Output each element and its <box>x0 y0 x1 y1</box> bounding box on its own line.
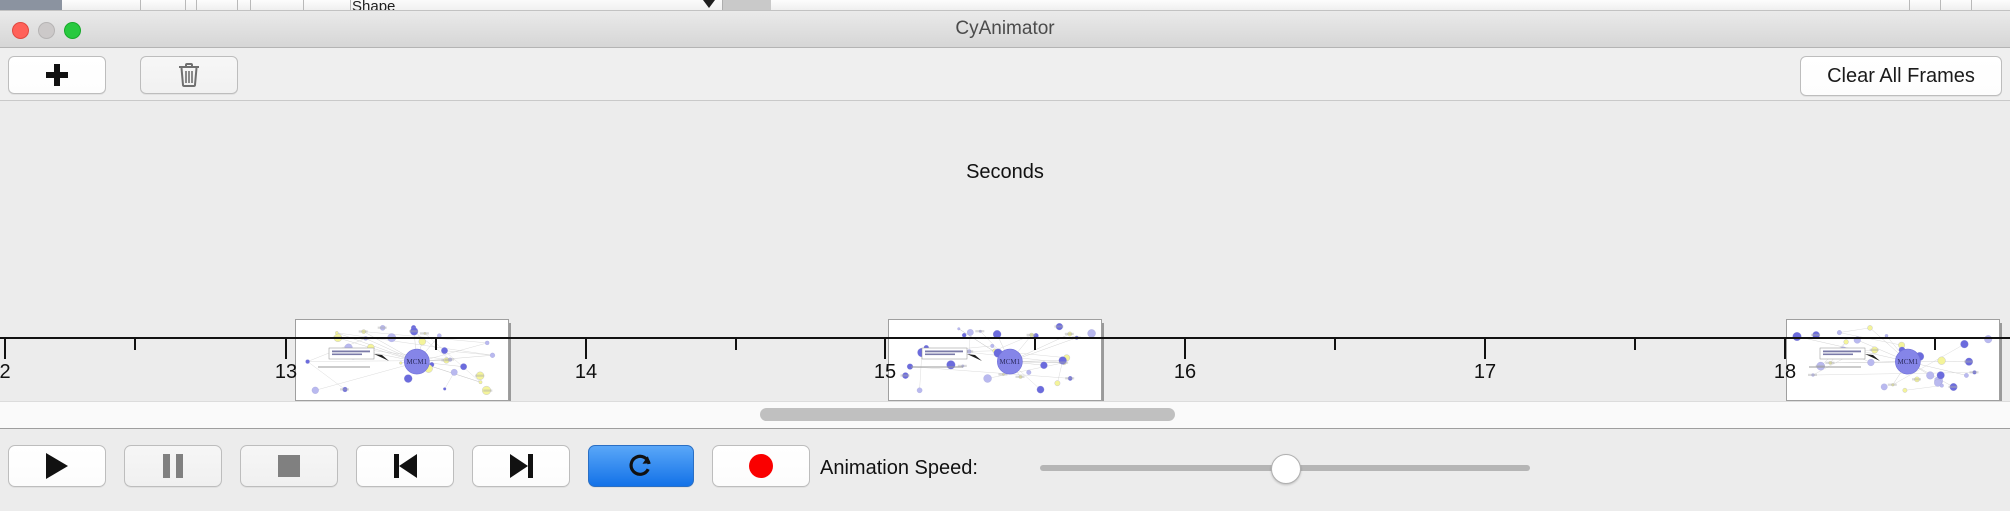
frame-toolbar: Clear All Frames <box>0 48 2010 101</box>
skip-forward-icon <box>510 454 533 478</box>
record-button[interactable] <box>712 445 810 487</box>
ruler-tick-label: 14 <box>575 361 597 384</box>
ruler-tick-label: 2 <box>0 361 11 384</box>
ruler-tick-minor <box>1034 339 1036 350</box>
animation-speed-slider[interactable] <box>1040 465 1530 471</box>
skip-forward-button[interactable] <box>472 445 570 487</box>
pause-button <box>124 445 222 487</box>
animation-speed-thumb[interactable] <box>1271 454 1301 484</box>
cyanimator-window: CyAnimator Clear All Frames <box>0 10 2010 511</box>
ruler-tick-major <box>1184 339 1186 359</box>
ruler-tick-label: 16 <box>1174 361 1196 384</box>
scrollbar-thumb[interactable] <box>760 408 1175 421</box>
ruler-tick-label: 17 <box>1474 361 1496 384</box>
add-frame-button[interactable] <box>8 56 106 94</box>
playback-toolbar: Animation Speed: <box>0 429 2010 503</box>
ruler-tick-major <box>585 339 587 359</box>
background-sort-arrow-icon <box>703 0 715 8</box>
window-title: CyAnimator <box>0 11 2010 47</box>
axis-title: Seconds <box>0 161 2010 184</box>
ruler-tick-minor <box>735 339 737 350</box>
skip-back-button[interactable] <box>356 445 454 487</box>
timeline-horizontal-scrollbar[interactable] <box>0 401 2010 429</box>
ruler-tick-minor <box>1634 339 1636 350</box>
animation-speed-label: Animation Speed: <box>820 457 978 480</box>
play-button[interactable] <box>8 445 106 487</box>
ruler-tick-minor <box>1334 339 1336 350</box>
loop-icon <box>626 451 656 481</box>
ruler-tick-label: 13 <box>275 361 297 384</box>
loop-button[interactable] <box>588 445 694 487</box>
title-bar: CyAnimator <box>0 11 2010 48</box>
ruler-baseline <box>0 337 2010 339</box>
stop-button <box>240 445 338 487</box>
ruler-tick-major <box>884 339 886 359</box>
clear-all-frames-button[interactable]: Clear All Frames <box>1800 56 2002 96</box>
stop-icon <box>278 455 300 477</box>
ruler-tick-major <box>285 339 287 359</box>
plus-icon <box>46 64 68 86</box>
ruler-tick-major <box>1484 339 1486 359</box>
delete-frame-button[interactable] <box>140 56 238 94</box>
cyanimator-app: Shape CyAnimator <box>0 0 2010 510</box>
ruler-tick-label: 18 <box>1774 361 1796 384</box>
record-icon <box>749 454 773 478</box>
ruler-tick-major <box>4 339 6 359</box>
ruler-tick-major <box>1784 339 1786 359</box>
timeline-ruler: 2131415161718 <box>0 337 2010 401</box>
timeline-panel[interactable]: MCM1 MCM1 MCM1 2131415161718 Seconds <box>0 101 2010 401</box>
play-icon <box>46 453 68 479</box>
ruler-tick-minor <box>435 339 437 350</box>
ruler-tick-label: 15 <box>874 361 896 384</box>
skip-back-icon <box>394 454 417 478</box>
ruler-tick-minor <box>1934 339 1936 350</box>
trash-icon <box>177 62 201 88</box>
ruler-tick-minor <box>134 339 136 350</box>
pause-icon <box>163 454 183 478</box>
